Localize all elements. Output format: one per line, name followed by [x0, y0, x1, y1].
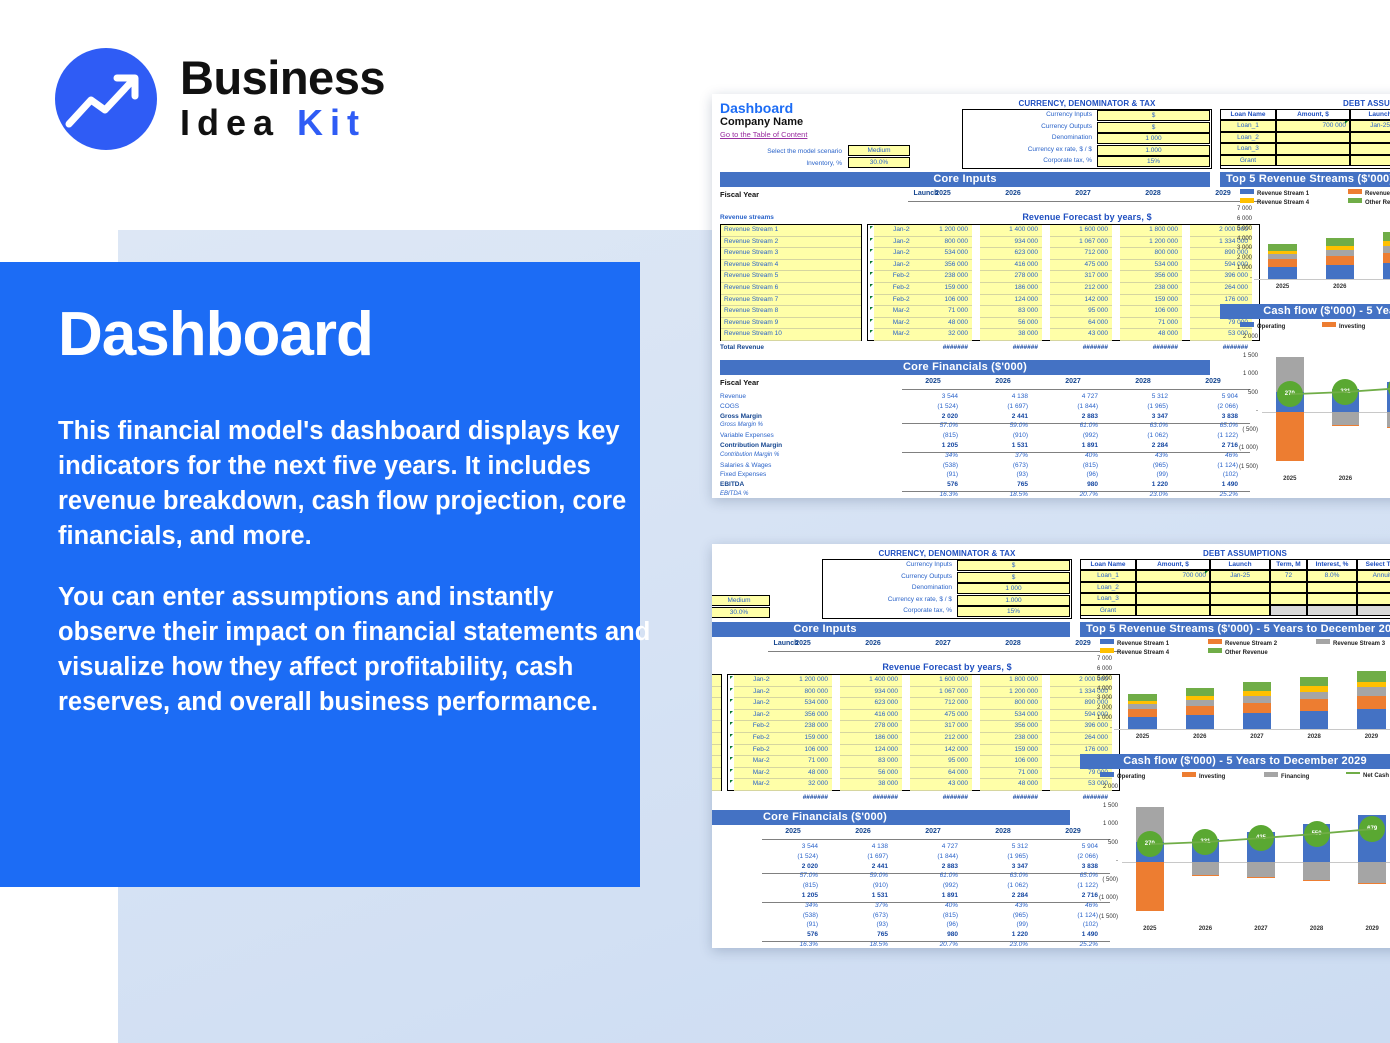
revenue-stream-value[interactable]: 1 200 000: [770, 675, 832, 687]
revenue-stream-value[interactable]: 1 600 000: [910, 675, 972, 687]
revenue-stream-value[interactable]: 95 000: [910, 756, 972, 768]
total-revenue-value: #######: [980, 794, 1042, 801]
core-financials-value: 23.0%: [970, 941, 1032, 948]
revenue-stream-value[interactable]: 159 000: [1120, 295, 1182, 307]
debt-cell[interactable]: [1270, 593, 1307, 605]
revenue-stream-name[interactable]: Revenue Stream 4: [712, 710, 721, 722]
revenue-stream-value[interactable]: 1 400 000: [840, 675, 902, 687]
debt-cell[interactable]: [1307, 605, 1357, 617]
debt-block-title: DEBT ASSUMPTIONS: [1080, 549, 1390, 558]
core-financials-value: 63.0%: [1110, 422, 1172, 429]
revenue-stream-value[interactable]: 159 000: [770, 733, 832, 745]
debt-cell[interactable]: 700 000: [1276, 120, 1350, 132]
core-financials-year-header: 2028: [1114, 378, 1172, 385]
revenue-stream-flag: [870, 238, 873, 241]
core-inputs-fiscal-year-label: Fiscal Year: [720, 190, 759, 199]
revenue-stream-value[interactable]: 124 000: [980, 295, 1042, 307]
revenue-stream-value[interactable]: 475 000: [910, 710, 972, 722]
revenue-bar-segment: [1383, 253, 1390, 264]
revenue-stream-value[interactable]: 475 000: [1050, 260, 1112, 272]
revenue-stream-name[interactable]: Revenue Stream 8: [712, 756, 721, 768]
x-axis-line: [1254, 279, 1390, 280]
revenue-stream-name[interactable]: Revenue Stream 2: [712, 687, 721, 699]
debt-cell[interactable]: [1357, 593, 1390, 605]
core-inputs-year-header: 2028: [1124, 190, 1182, 197]
revenue-stream-value[interactable]: 43 000: [1050, 329, 1112, 341]
core-inputs-header-rule: [908, 201, 1260, 202]
debt-cell[interactable]: [1210, 593, 1270, 605]
revenue-stream-value[interactable]: 534 000: [1120, 260, 1182, 272]
debt-cell[interactable]: Loan_1: [1080, 570, 1136, 582]
core-financials-value: (815): [1040, 462, 1102, 469]
revenue-bar-segment: [1128, 717, 1157, 729]
debt-cell[interactable]: [1276, 155, 1350, 167]
legend-swatch: [1208, 648, 1222, 653]
debt-cell[interactable]: [1307, 582, 1357, 594]
core-financials-row-label: Revenue: [720, 393, 746, 400]
currency-row-value[interactable]: $: [957, 572, 1070, 583]
currency-row-value[interactable]: 15%: [1097, 156, 1210, 167]
revenue-stream-value[interactable]: 1 200 000: [980, 687, 1042, 699]
revenue-bar-segment: [1300, 692, 1329, 700]
revenue-stream-value[interactable]: 712 000: [910, 698, 972, 710]
revenue-stream-name[interactable]: Revenue Stream 9: [712, 768, 721, 780]
core-financials-value: 37%: [830, 902, 892, 909]
revenue-stream-value[interactable]: 317 000: [1050, 271, 1112, 283]
revenue-bar-segment: [1268, 251, 1297, 255]
revenue-stream-value[interactable]: 623 000: [980, 248, 1042, 260]
core-financials-value: (1 524): [760, 853, 822, 860]
revenue-stream-value[interactable]: 106 000: [910, 295, 972, 307]
revenue-stream-value[interactable]: 800 000: [770, 687, 832, 699]
revenue-stream-value[interactable]: 48 000: [910, 318, 972, 330]
revenue-stream-value[interactable]: 1 200 000: [910, 225, 972, 237]
revenue-stream-value[interactable]: 1 200 000: [1120, 237, 1182, 249]
revenue-stream-value[interactable]: 1 800 000: [1120, 225, 1182, 237]
debt-cell[interactable]: [1270, 605, 1307, 617]
legend-swatch: [1100, 639, 1114, 644]
debt-cell[interactable]: [1276, 132, 1350, 144]
revenue-stream-value[interactable]: 48 000: [980, 779, 1042, 791]
y-axis-tick: 2 000: [1084, 705, 1112, 711]
core-financials-value: 43%: [970, 902, 1032, 909]
sheet-company-name: Company Name: [720, 116, 803, 128]
core-financials-value: (93): [970, 471, 1032, 478]
revenue-bar-segment: [1186, 700, 1215, 706]
core-financials-value: 59.0%: [970, 422, 1032, 429]
debt-cell[interactable]: [1136, 605, 1210, 617]
revenue-stream-value[interactable]: 48 000: [1120, 329, 1182, 341]
dashboard-screenshot-top: DashboardCompany NameGo to the Table of …: [712, 94, 1390, 498]
core-financials-row-label: COGS: [720, 403, 739, 410]
revenue-stream-value[interactable]: 1 067 000: [910, 687, 972, 699]
revenue-bar-segment: [1300, 677, 1329, 687]
core-financials-value: 765: [970, 481, 1032, 488]
revenue-stream-value[interactable]: 317 000: [910, 721, 972, 733]
legend-item: Revenue Stream 3: [1316, 639, 1385, 647]
revenue-stream-value[interactable]: 534 000: [910, 248, 972, 260]
revenue-stream-flag: [730, 722, 733, 725]
revenue-stream-name[interactable]: Revenue Stream 8: [721, 306, 861, 318]
revenue-stream-value[interactable]: 38 000: [840, 779, 902, 791]
revenue-stream-flag: [730, 734, 733, 737]
legend-swatch: [1240, 189, 1254, 194]
revenue-bar-segment: [1186, 715, 1215, 729]
legend-item: Revenue Stream 1: [1100, 639, 1169, 647]
core-financials-value: 61.0%: [900, 872, 962, 879]
debt-cell[interactable]: [1357, 582, 1390, 594]
core-financials-row-label: Contribution Margin: [720, 442, 782, 449]
core-financials-value: (815): [900, 912, 962, 919]
dashboard-screenshot-bottom: DashboardCompany NameGo to the Table of …: [712, 544, 1390, 948]
core-financials-value: 1 220: [1110, 481, 1172, 488]
currency-row-label: Corporate tax, %: [824, 607, 952, 614]
core-financials-row-label: EBITDA: [720, 481, 744, 488]
debt-cell[interactable]: [1210, 605, 1270, 617]
revenue-stream-value[interactable]: 43 000: [910, 779, 972, 791]
debt-header-cell: Launch: [1350, 109, 1390, 120]
currency-row-label: Denomination: [964, 134, 1092, 141]
revenue-stream-value[interactable]: 534 000: [770, 698, 832, 710]
core-financials-value: (910): [830, 882, 892, 889]
revenue-stream-value[interactable]: 106 000: [980, 756, 1042, 768]
core-financials-value: (1 697): [830, 853, 892, 860]
revenue-stream-value[interactable]: 800 000: [910, 237, 972, 249]
debt-cell[interactable]: [1350, 132, 1390, 144]
scenario-label: Select the model scenario: [736, 148, 842, 155]
revenue-stream-value[interactable]: 356 000: [1120, 271, 1182, 283]
revenue-bar-segment: [1268, 267, 1297, 279]
core-inputs-year-header: 2025: [774, 640, 832, 647]
core-inputs-year-header: 2028: [984, 640, 1042, 647]
revenue-stream-name[interactable]: Revenue Stream 9: [721, 318, 861, 330]
revenue-stream-name[interactable]: Revenue Stream 10: [712, 779, 721, 791]
revenue-stream-value[interactable]: 356 000: [910, 260, 972, 272]
revenue-stream-value[interactable]: 264 000: [1050, 733, 1112, 745]
debt-cell[interactable]: [1307, 593, 1357, 605]
revenue-stream-value[interactable]: 106 000: [770, 745, 832, 757]
debt-cell[interactable]: Loan_2: [1080, 582, 1136, 594]
growth-arrow-icon: [55, 48, 157, 150]
core-financials-value: (1 844): [900, 853, 962, 860]
revenue-stream-value[interactable]: 800 000: [980, 698, 1042, 710]
debt-cell[interactable]: 72: [1270, 570, 1307, 582]
revenue-stream-value[interactable]: 934 000: [980, 237, 1042, 249]
x-axis-category: 2027: [1368, 284, 1390, 290]
cashflow-trend-line: [1220, 304, 1390, 494]
revenue-stream-value[interactable]: 934 000: [840, 687, 902, 699]
revenue-stream-value[interactable]: 416 000: [840, 710, 902, 722]
page-title: Dashboard: [58, 300, 658, 370]
revenue-stream-value[interactable]: 186 000: [980, 283, 1042, 295]
revenue-stream-value[interactable]: 238 000: [910, 271, 972, 283]
revenue-stream-value[interactable]: 356 000: [980, 721, 1042, 733]
scenario-select[interactable]: Medium: [712, 595, 770, 606]
revenue-stream-name[interactable]: Revenue Stream 6: [721, 283, 861, 295]
legend-item: Revenue Stream 2: [1208, 639, 1277, 647]
revenue-bar-segment: [1357, 671, 1386, 682]
revenue-bar-segment: [1243, 703, 1272, 714]
core-financials-value: 4 727: [1040, 393, 1102, 400]
core-financials-row-label: Gross Margin: [720, 413, 762, 420]
x-axis-category: 2026: [1311, 284, 1368, 290]
debt-block-title: DEBT ASSUMPTIONS: [1220, 99, 1390, 108]
debt-cell[interactable]: [1136, 582, 1210, 594]
legend-label: Revenue Stream 4: [1257, 200, 1309, 206]
legend-swatch: [1316, 639, 1330, 644]
revenue-stream-value[interactable]: 159 000: [910, 283, 972, 295]
revenue-stream-value[interactable]: 238 000: [980, 733, 1042, 745]
revenue-stream-value[interactable]: 71 000: [980, 768, 1042, 780]
revenue-stream-name[interactable]: Revenue Stream 7: [721, 295, 861, 307]
revenue-stream-value[interactable]: 1 067 000: [1050, 237, 1112, 249]
core-financials-year-header: 2025: [764, 828, 822, 835]
currency-row-label: Currency ex rate, $ / $: [824, 596, 952, 603]
y-axis-tick: 2 000: [1224, 255, 1252, 261]
debt-cell[interactable]: [1276, 143, 1350, 155]
revenue-stream-value[interactable]: 1 800 000: [980, 675, 1042, 687]
revenue-stream-name[interactable]: Revenue Stream 3: [712, 698, 721, 710]
x-axis-category: 2027: [1228, 734, 1285, 740]
revenue-stream-value[interactable]: 32 000: [910, 329, 972, 341]
hero-paragraph-1: This financial model's dashboard display…: [58, 414, 658, 554]
core-financials-year-header: 2026: [974, 378, 1032, 385]
x-axis-category: 2026: [1171, 734, 1228, 740]
core-financials-value: (965): [970, 912, 1032, 919]
revenue-stream-value[interactable]: 71 000: [770, 756, 832, 768]
inventory-input[interactable]: 30.0%: [712, 607, 770, 618]
hero-paragraph-2: You can enter assumptions and instantly …: [58, 580, 658, 720]
debt-cell[interactable]: [1350, 155, 1390, 167]
revenue-stream-value[interactable]: 48 000: [770, 768, 832, 780]
y-axis-tick: 1 000: [1084, 715, 1112, 721]
revenue-stream-value[interactable]: 800 000: [1120, 248, 1182, 260]
core-financials-value: (1 062): [970, 882, 1032, 889]
legend-label: Other Revenue: [1365, 200, 1390, 206]
revenue-stream-value[interactable]: 64 000: [910, 768, 972, 780]
revenue-stream-flag: [730, 711, 733, 714]
core-financials-year-header: 2027: [1044, 378, 1102, 385]
revenue-stream-name[interactable]: Revenue Stream 5: [712, 721, 721, 733]
revenue-stream-value[interactable]: 56 000: [980, 318, 1042, 330]
core-financials-value: 3 347: [970, 863, 1032, 870]
debt-cell[interactable]: [1210, 582, 1270, 594]
core-financials-value: 23.0%: [1110, 491, 1172, 498]
revenue-stream-value[interactable]: 212 000: [910, 733, 972, 745]
hero-section: Dashboard This financial model's dashboa…: [58, 300, 658, 746]
x-axis-category: 2025: [1114, 734, 1171, 740]
revenue-stream-value[interactable]: 416 000: [980, 260, 1042, 272]
legend-item: Revenue Stream 4: [1240, 198, 1309, 206]
core-financials-value: 59.0%: [830, 872, 892, 879]
core-financials-value: 4 138: [970, 393, 1032, 400]
core-financials-value: 5 312: [1110, 393, 1172, 400]
revenue-stream-value[interactable]: 278 000: [840, 721, 902, 733]
core-financials-value: (673): [830, 912, 892, 919]
revenue-bar-segment: [1268, 259, 1297, 267]
revenue-stream-value[interactable]: 1 400 000: [980, 225, 1042, 237]
debt-cell[interactable]: Loan_3: [1080, 593, 1136, 605]
core-financials-value: 16.3%: [900, 491, 962, 498]
revenue-bar-segment: [1326, 265, 1355, 279]
revenue-bar-segment: [1268, 254, 1297, 259]
revenue-stream-value[interactable]: 83 000: [840, 756, 902, 768]
revenue-stream-value[interactable]: 56 000: [840, 768, 902, 780]
core-financials-value: 2 441: [970, 413, 1032, 420]
table-of-contents-link[interactable]: Go to the Table of Content: [720, 130, 807, 139]
debt-cell[interactable]: [1270, 582, 1307, 594]
core-financials-value: 18.5%: [970, 491, 1032, 498]
currency-row-label: Corporate tax, %: [964, 157, 1092, 164]
core-financials-value: (1 965): [1110, 403, 1172, 410]
revenue-stream-flag: [870, 226, 873, 229]
x-axis-line: [1114, 729, 1390, 730]
revenue-stream-value[interactable]: 238 000: [770, 721, 832, 733]
revenue-bar-segment: [1186, 696, 1215, 700]
revenue-stream-value[interactable]: 278 000: [980, 271, 1042, 283]
revenue-stream-value[interactable]: 124 000: [840, 745, 902, 757]
debt-comment-flag: [1345, 121, 1348, 124]
revenue-stream-value[interactable]: 356 000: [770, 710, 832, 722]
revenue-stream-name[interactable]: Revenue Stream 1: [721, 225, 861, 237]
currency-row-label: Currency ex rate, $ / $: [964, 146, 1092, 153]
debt-cell[interactable]: [1136, 593, 1210, 605]
legend-label: Revenue Stream 1: [1117, 641, 1169, 647]
total-revenue-value: #######: [840, 794, 902, 801]
revenue-stream-value[interactable]: 159 000: [980, 745, 1042, 757]
x-axis-category: 2025: [1254, 284, 1311, 290]
debt-cell[interactable]: Loan_1: [1220, 120, 1276, 132]
debt-cell[interactable]: Grant: [1080, 605, 1136, 617]
core-financials-value: 1 220: [970, 931, 1032, 938]
debt-cell[interactable]: 8.0%: [1307, 570, 1357, 582]
revenue-stream-value[interactable]: 623 000: [840, 698, 902, 710]
currency-row-value[interactable]: $: [1097, 110, 1210, 121]
revenue-stream-value[interactable]: 238 000: [1120, 283, 1182, 295]
revenue-stream-value[interactable]: 106 000: [1120, 306, 1182, 318]
revenue-forecast-title: Revenue Forecast by years, $: [912, 212, 1262, 222]
revenue-stream-name[interactable]: Revenue Stream 7: [712, 745, 721, 757]
revenue-stream-value[interactable]: 264 000: [1190, 283, 1252, 295]
debt-cell[interactable]: Loan_2: [1220, 132, 1276, 144]
debt-cell[interactable]: Loan_3: [1220, 143, 1276, 155]
revenue-stream-value[interactable]: 71 000: [910, 306, 972, 318]
debt-header-cell: Select Type: [1357, 559, 1390, 570]
core-financials-banner: Core Financials ($'000): [720, 360, 1210, 375]
core-financials-value: 576: [760, 931, 822, 938]
revenue-stream-value[interactable]: 32 000: [770, 779, 832, 791]
revenue-bar-segment: [1243, 713, 1272, 729]
y-axis-tick: 6 000: [1224, 216, 1252, 222]
revenue-stream-name[interactable]: Revenue Stream 1: [712, 675, 721, 687]
core-inputs-banner: Core Inputs: [720, 172, 1210, 187]
revenue-stream-value[interactable]: 212 000: [1050, 283, 1112, 295]
debt-cell[interactable]: Annuity: [1357, 570, 1390, 582]
revenue-stream-value[interactable]: 186 000: [840, 733, 902, 745]
revenue-stream-value[interactable]: 712 000: [1050, 248, 1112, 260]
total-revenue-value: #######: [910, 344, 972, 351]
debt-cell[interactable]: Jan-25: [1350, 120, 1390, 132]
revenue-bar-segment: [1128, 701, 1157, 705]
revenue-stream-value[interactable]: 142 000: [910, 745, 972, 757]
revenue-bar-segment: [1300, 686, 1329, 691]
core-financials-fiscal-year-label: Fiscal Year: [720, 378, 759, 387]
currency-row-value[interactable]: 1.000: [957, 595, 1070, 606]
y-axis-tick: 5 000: [1084, 676, 1112, 682]
core-inputs-year-header: 2027: [914, 640, 972, 647]
revenue-bar-segment: [1243, 682, 1272, 691]
revenue-stream-value[interactable]: 38 000: [980, 329, 1042, 341]
revenue-stream-name[interactable]: Revenue Stream 3: [721, 248, 861, 260]
revenue-stream-name[interactable]: Revenue Stream 10: [721, 329, 861, 341]
revenue-bar-segment: [1326, 256, 1355, 265]
core-financials-value: 2 020: [760, 863, 822, 870]
revenue-stream-name[interactable]: Revenue Stream 4: [721, 260, 861, 272]
revenue-bar-segment: [1383, 246, 1390, 253]
y-axis-tick: 4 000: [1084, 686, 1112, 692]
currency-row-value[interactable]: 15%: [957, 606, 1070, 617]
core-financials-row-label: Contribution Margin %: [720, 452, 779, 458]
revenue-stream-flag: [870, 307, 873, 310]
revenue-stream-value[interactable]: 534 000: [980, 710, 1042, 722]
currency-row-value[interactable]: $: [1097, 122, 1210, 133]
core-financials-value: (1 524): [900, 403, 962, 410]
revenue-stream-name[interactable]: Revenue Stream 6: [712, 733, 721, 745]
legend-item: Revenue Stream 1: [1240, 189, 1309, 197]
revenue-stream-value[interactable]: 83 000: [980, 306, 1042, 318]
scenario-select[interactable]: Medium: [848, 145, 910, 156]
sheet-dashboard-title: Dashboard: [720, 100, 793, 116]
debt-cell[interactable]: [1357, 605, 1390, 617]
core-financials-value: (93): [830, 921, 892, 928]
core-financials-value: 63.0%: [970, 872, 1032, 879]
legend-item: Revenue Stream 2: [1348, 189, 1390, 197]
currency-row-value[interactable]: 1.000: [1097, 145, 1210, 156]
revenue-stream-value[interactable]: 142 000: [1050, 295, 1112, 307]
revenue-stream-value[interactable]: 95 000: [1050, 306, 1112, 318]
core-financials-value: (992): [1040, 432, 1102, 439]
currency-row-value[interactable]: $: [957, 560, 1070, 571]
core-financials-value: 5 312: [970, 843, 1032, 850]
revenue-stream-name[interactable]: Revenue Stream 5: [721, 271, 861, 283]
core-financials-header-rule: [762, 839, 1110, 840]
revenue-stream-value[interactable]: 1 600 000: [1050, 225, 1112, 237]
inventory-label: Inventory, %: [736, 160, 842, 167]
revenue-stream-value[interactable]: 71 000: [1120, 318, 1182, 330]
core-financials-value: 20.7%: [1040, 491, 1102, 498]
debt-cell[interactable]: Grant: [1220, 155, 1276, 167]
core-financials-value: (992): [900, 882, 962, 889]
core-financials-value: 43%: [1110, 452, 1172, 459]
core-financials-value: 1 205: [900, 442, 962, 449]
revenue-stream-name[interactable]: Revenue Stream 2: [721, 237, 861, 249]
core-financials-year-header: 2028: [974, 828, 1032, 835]
core-financials-value: 2 441: [830, 863, 892, 870]
revenue-stream-value[interactable]: 64 000: [1050, 318, 1112, 330]
total-revenue-value: #######: [770, 794, 832, 801]
core-financials-value: 980: [1040, 481, 1102, 488]
brand-logo: Business Idea Kit: [50, 36, 470, 156]
revenue-stream-flag: [870, 296, 873, 299]
debt-cell[interactable]: Jan-25: [1210, 570, 1270, 582]
y-axis-tick: 7 000: [1084, 656, 1112, 662]
brand-name-line1: Business: [180, 52, 385, 104]
currency-row-value[interactable]: 1 000: [957, 583, 1070, 594]
currency-row-value[interactable]: 1 000: [1097, 133, 1210, 144]
inventory-input[interactable]: 30.0%: [848, 157, 910, 168]
debt-cell[interactable]: 700 000: [1136, 570, 1210, 582]
debt-cell[interactable]: [1350, 143, 1390, 155]
